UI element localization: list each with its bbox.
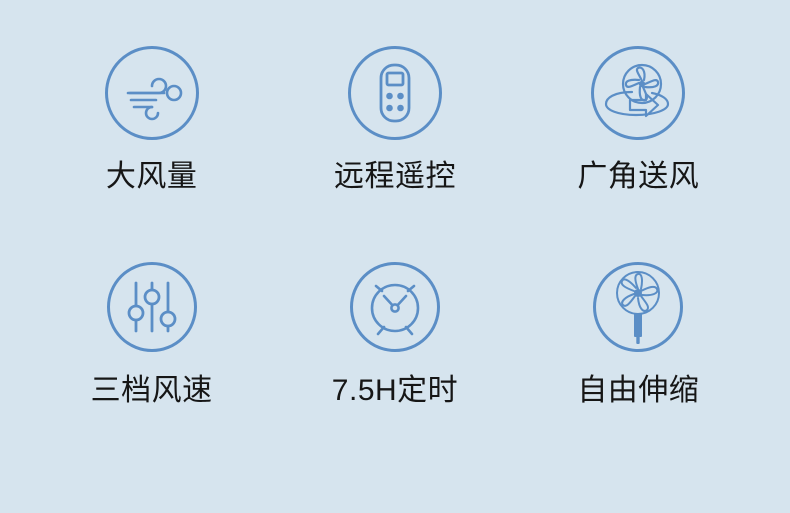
feature-label-big-airflow: 大风量 (106, 160, 198, 194)
feature-item-remote-control[interactable]: 远程遥控 (273, 46, 516, 262)
wind-icon (122, 68, 182, 118)
feature-item-wide-angle-airflow[interactable]: 广角送风 (517, 46, 760, 262)
icon-circle-big-airflow (105, 46, 199, 140)
feature-item-big-airflow[interactable]: 大风量 (30, 46, 273, 262)
feature-grid: 大风量 远程遥控 (0, 0, 790, 513)
alarm-clock-icon (364, 276, 426, 338)
wide-angle-fan-icon (602, 62, 674, 124)
pedestal-fan-icon (609, 270, 667, 344)
feature-label-remote-control: 远程遥控 (334, 160, 456, 194)
feature-label-wide-angle-airflow: 广角送风 (577, 160, 699, 194)
icon-circle-timer (350, 262, 440, 352)
icon-circle-three-speed (107, 262, 197, 352)
remote-control-icon (373, 62, 417, 124)
feature-label-adjustable-height: 自由伸缩 (577, 374, 699, 408)
icon-circle-adjustable-height (593, 262, 683, 352)
sliders-icon (125, 279, 179, 335)
feature-item-adjustable-height[interactable]: 自由伸缩 (517, 262, 760, 478)
feature-label-timer: 7.5H定时 (332, 374, 458, 408)
icon-circle-remote-control (348, 46, 442, 140)
feature-label-three-speed: 三档风速 (91, 374, 213, 408)
icon-circle-wide-angle-airflow (591, 46, 685, 140)
feature-item-three-speed[interactable]: 三档风速 (30, 262, 273, 478)
feature-item-timer[interactable]: 7.5H定时 (273, 262, 516, 478)
